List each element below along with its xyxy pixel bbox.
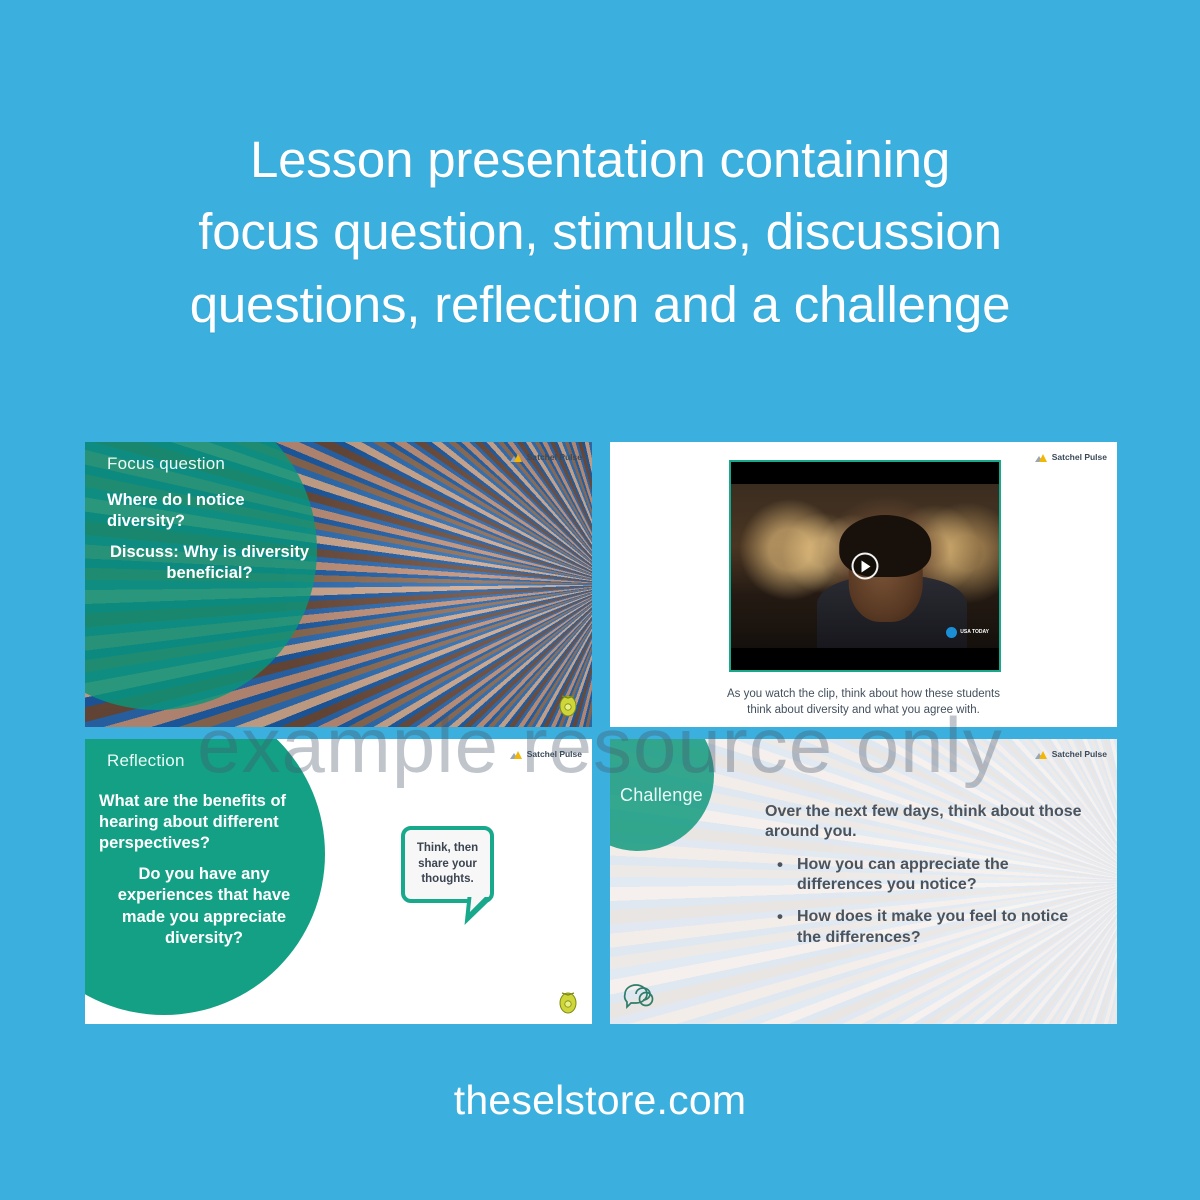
- stimulus-caption-line-1: As you watch the clip, think about how t…: [610, 686, 1117, 702]
- speech-bubble-text: Think, then share your thoughts.: [405, 841, 490, 889]
- page-title-line-3: questions, reflection and a challenge: [0, 269, 1200, 341]
- slide-stimulus[interactable]: USA TODAY As you watch the clip, think a…: [610, 442, 1117, 727]
- slide-label-reflection: Reflection: [107, 751, 185, 771]
- satchel-pulse-logo-text: Satchel Pulse: [527, 452, 582, 462]
- satchel-pulse-logo-text: Satchel Pulse: [527, 749, 582, 759]
- satchel-pulse-logo: Satchel Pulse: [510, 452, 582, 462]
- olive-mascot-icon: [558, 986, 578, 1014]
- page-title-line-2: focus question, stimulus, discussion: [0, 196, 1200, 268]
- slide-challenge[interactable]: Challenge Over the next few days, think …: [610, 739, 1117, 1024]
- focus-question-body: Where do I notice diversity? Discuss: Wh…: [107, 490, 312, 584]
- speech-bubble: Think, then share your thoughts.: [401, 826, 494, 903]
- reflection-question-1: What are the benefits of hearing about d…: [99, 792, 286, 852]
- satchel-pulse-logo-text: Satchel Pulse: [1052, 452, 1107, 462]
- satchel-pulse-logo-text: Satchel Pulse: [1052, 749, 1107, 759]
- olive-mascot-icon: [558, 689, 578, 717]
- usa-today-dot-icon: [946, 627, 957, 638]
- footer-url: theselstore.com: [0, 1077, 1200, 1124]
- challenge-bullet-2: How does it make you feel to notice the …: [765, 907, 1095, 948]
- satchel-pulse-mark-icon: [510, 750, 523, 759]
- challenge-lead: Over the next few days, think about thos…: [765, 802, 1095, 843]
- video-letterbox-bottom: [731, 648, 999, 670]
- stimulus-caption-line-2: think about diversity and what you agree…: [610, 702, 1117, 718]
- usa-today-watermark: USA TODAY: [946, 627, 989, 638]
- challenge-body: Over the next few days, think about thos…: [765, 802, 1095, 960]
- chat-bubbles-icon: [622, 982, 662, 1012]
- play-button[interactable]: [852, 553, 879, 580]
- page-title-line-1: Lesson presentation containing: [0, 124, 1200, 196]
- satchel-pulse-logo: Satchel Pulse: [1035, 749, 1107, 759]
- usa-today-label: USA TODAY: [960, 630, 989, 635]
- focus-question-2: Discuss: Why is diversity beneficial?: [107, 542, 312, 584]
- page-title: Lesson presentation containing focus que…: [0, 124, 1200, 341]
- slide-label-focus-question: Focus question: [107, 454, 225, 474]
- video-inner: USA TODAY: [731, 462, 999, 670]
- video-player[interactable]: USA TODAY: [729, 460, 1001, 672]
- satchel-pulse-logo: Satchel Pulse: [1035, 452, 1107, 462]
- satchel-pulse-mark-icon: [1035, 750, 1048, 759]
- slide-reflection[interactable]: Reflection What are the benefits of hear…: [85, 739, 592, 1024]
- focus-question-1: Where do I notice diversity?: [107, 491, 245, 530]
- satchel-pulse-logo: Satchel Pulse: [510, 749, 582, 759]
- slide-focus-question[interactable]: Focus question Where do I notice diversi…: [85, 442, 592, 727]
- speech-bubble-tail-icon: [465, 897, 494, 925]
- slide-grid: Focus question Where do I notice diversi…: [85, 442, 1117, 1024]
- satchel-pulse-mark-icon: [510, 453, 523, 462]
- video-letterbox-top: [731, 462, 999, 484]
- stimulus-caption: As you watch the clip, think about how t…: [610, 686, 1117, 719]
- slide-label-challenge: Challenge: [620, 785, 703, 806]
- reflection-question-2: Do you have any experiences that have ma…: [99, 864, 309, 948]
- reflection-body: What are the benefits of hearing about d…: [99, 791, 309, 949]
- challenge-bullet-list: How you can appreciate the differences y…: [765, 855, 1095, 948]
- satchel-pulse-mark-icon: [1035, 453, 1048, 462]
- challenge-bullet-1: How you can appreciate the differences y…: [765, 855, 1095, 896]
